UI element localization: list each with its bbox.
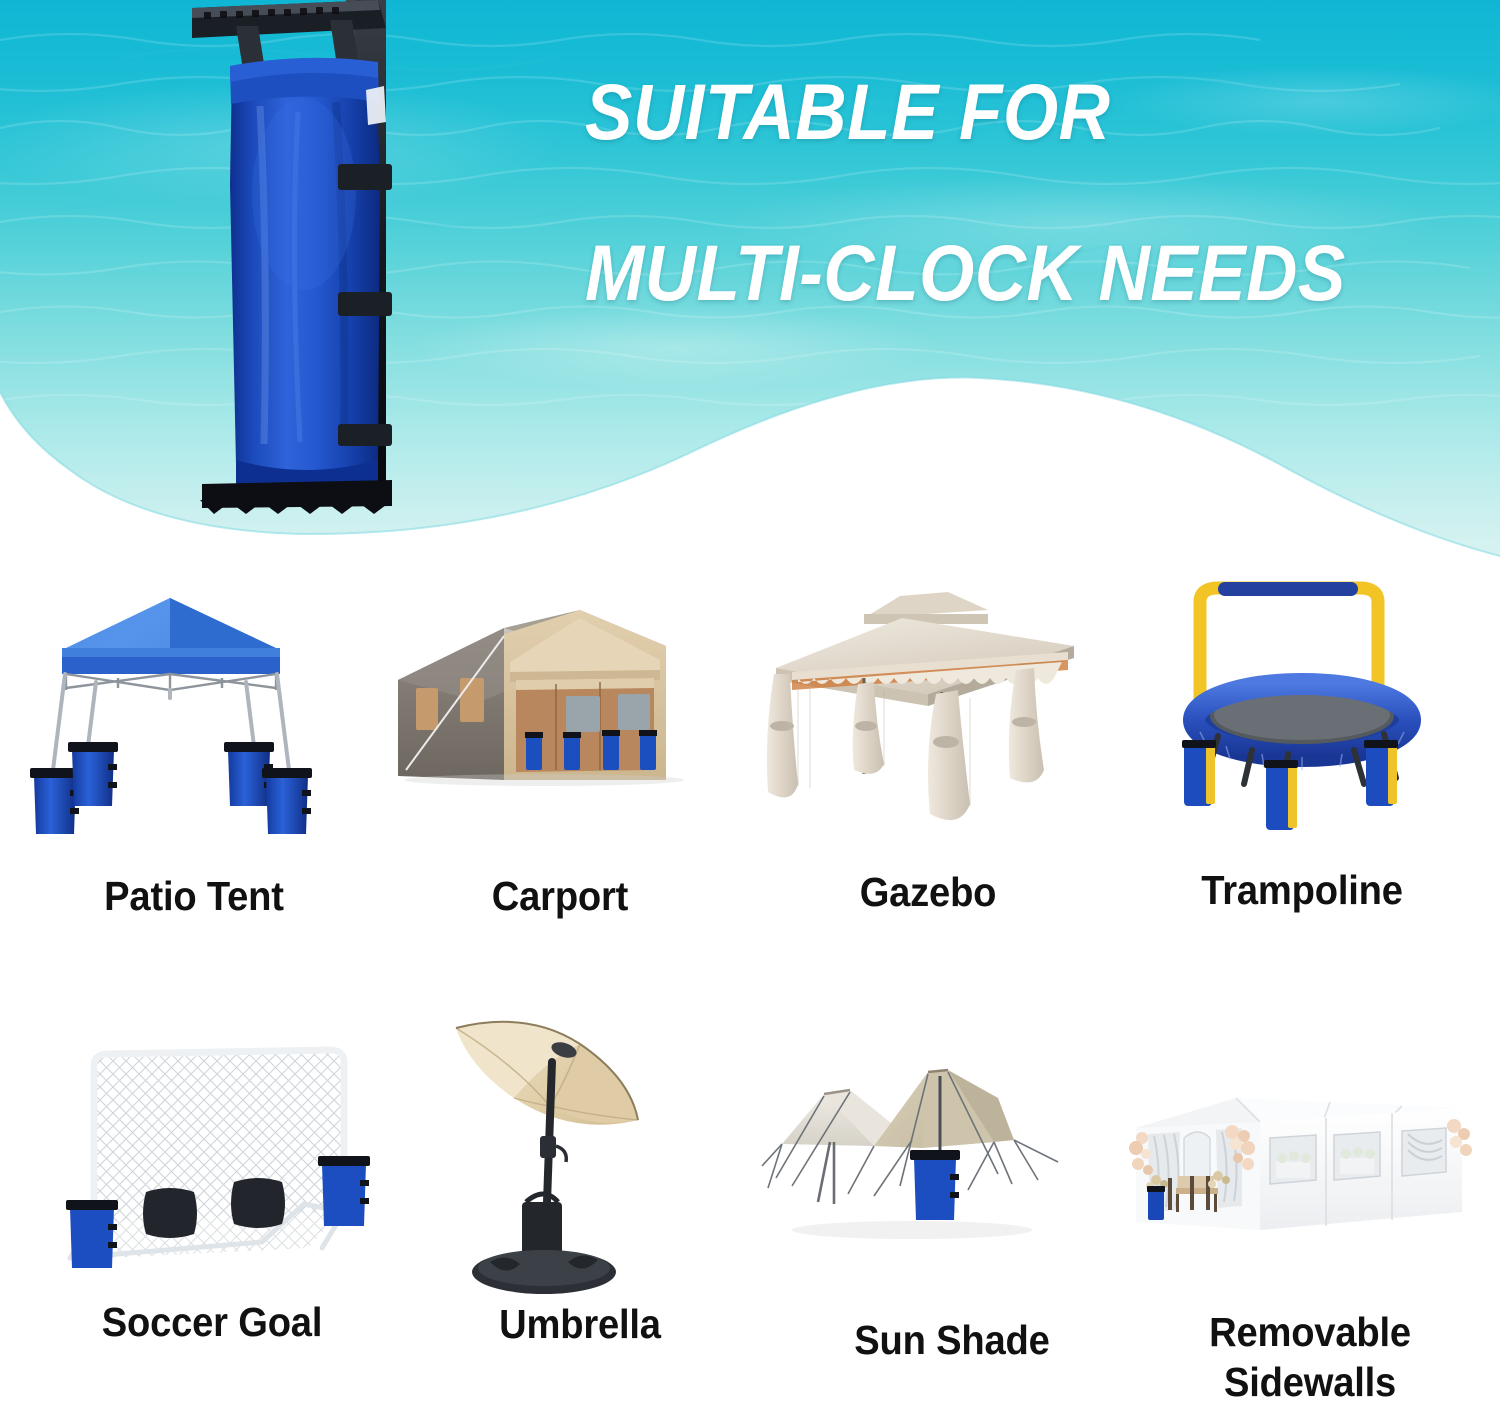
gazebo-curtain [1009, 668, 1044, 783]
weight-bag [1264, 760, 1298, 830]
trampoline-illustration [1122, 568, 1482, 868]
item-label-removable-sidewalls-line2: Sidewalls [1133, 1360, 1486, 1406]
item-label-trampoline: Trampoline [1135, 868, 1470, 914]
hero-banner: SUITABLE FOR MULTI-CLOCK NEEDS [0, 0, 1500, 560]
weight-bag [318, 1156, 370, 1226]
sandbag-pillow [231, 1178, 285, 1228]
weight-bag [1182, 740, 1216, 806]
umbrella-illustration [404, 1006, 756, 1306]
weight-bag [30, 768, 80, 834]
weight-bag [262, 768, 312, 834]
weight-bag [1147, 1186, 1165, 1220]
gazebo-illustration [752, 574, 1104, 874]
grid-item-removable-sidewalls[interactable]: Removable Sidewalls [1120, 1080, 1500, 1400]
sun-shade-illustration [762, 1056, 1142, 1316]
soccer-goal-illustration [22, 1022, 402, 1292]
product-feature-page: SUITABLE FOR MULTI-CLOCK NEEDS [0, 0, 1500, 1391]
item-label-removable-sidewalls-line1: Removable [1133, 1310, 1486, 1356]
item-label-carport: Carport [396, 874, 723, 920]
weight-bag [602, 730, 620, 770]
weight-bag [66, 1200, 118, 1268]
weight-bag [1364, 740, 1398, 806]
grid-item-umbrella[interactable]: Umbrella [404, 1006, 756, 1386]
grid-item-patio-tent[interactable]: Patio Tent [18, 578, 370, 938]
weight-bag [525, 732, 543, 770]
carport-illustration [384, 584, 736, 874]
grid-item-carport[interactable]: Carport [384, 584, 736, 944]
weight-bag [563, 732, 581, 770]
item-label-patio-tent: Patio Tent [30, 874, 357, 920]
grid-item-gazebo[interactable]: Gazebo [752, 574, 1104, 934]
item-label-gazebo: Gazebo [764, 870, 1091, 916]
weight-bag [910, 1150, 960, 1220]
item-label-umbrella: Umbrella [416, 1302, 743, 1348]
weight-bag [639, 730, 657, 770]
grid-item-trampoline[interactable]: Trampoline [1122, 568, 1482, 938]
weight-bag [68, 742, 118, 806]
patio-tent-illustration [18, 578, 370, 868]
grid-item-soccer-goal[interactable]: Soccer Goal [22, 1022, 402, 1382]
removable-sidewalls-illustration [1120, 1080, 1500, 1300]
item-label-soccer-goal: Soccer Goal [35, 1300, 388, 1346]
sandbag-pillow [143, 1188, 197, 1238]
grid-item-sun-shade[interactable]: Sun Shade [762, 1056, 1142, 1396]
item-label-sun-shade: Sun Shade [775, 1318, 1128, 1364]
gazebo-curtain [767, 674, 798, 797]
application-grid: Patio Tent [0, 560, 1500, 1391]
gazebo-curtain [928, 690, 970, 820]
wave-divider [0, 0, 1500, 560]
